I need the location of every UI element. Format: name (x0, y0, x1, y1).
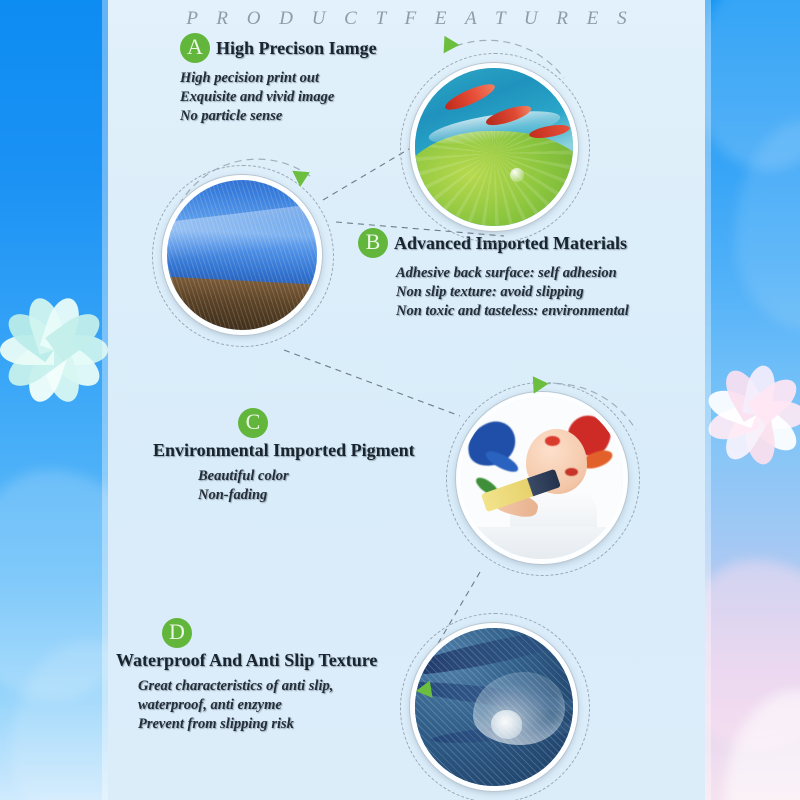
feature-d-line: Prevent from slipping risk (138, 715, 377, 734)
feature-block-d: D Waterproof And Anti Slip Texture Great… (116, 618, 377, 734)
feature-a-line: No particle sense (180, 107, 377, 126)
feature-b-body: Adhesive back surface: self adhesion Non… (396, 264, 629, 321)
feature-block-c: C Environmental Imported Pigment Beautif… (153, 408, 415, 505)
feature-d-body: Great characteristics of anti slip, wate… (138, 677, 377, 734)
feature-a-title: High Precison Iamge (216, 38, 377, 59)
feature-a-line: High pecision print out (180, 69, 377, 88)
feature-c-body: Beautiful color Non-fading (198, 467, 415, 505)
badge-b: B (358, 228, 388, 258)
feature-a-line: Exquisite and vivid image (180, 88, 377, 107)
green-triangle-arrow-icon (437, 32, 460, 54)
feature-c-line: Non-fading (198, 486, 415, 505)
feature-d-line: waterproof, anti enzyme (138, 696, 377, 715)
product-features-poster: P R O D U C T F E A T U R E S A High Pre… (0, 0, 800, 800)
left-decorative-border (0, 0, 108, 800)
feature-b-line: Adhesive back surface: self adhesion (396, 264, 629, 283)
badge-a: A (180, 33, 210, 63)
content-panel: P R O D U C T F E A T U R E S A High Pre… (108, 0, 705, 800)
dashed-ring (400, 613, 590, 800)
feature-b-line: Non slip texture: avoid slipping (396, 283, 629, 302)
feature-a-body: High pecision print out Exquisite and vi… (180, 69, 377, 126)
dashed-ring (446, 382, 640, 576)
feature-c-line: Beautiful color (198, 467, 415, 486)
badge-d: D (162, 618, 192, 648)
dashed-ring (152, 165, 334, 347)
flower-rosette-icon (0, 290, 108, 410)
feature-c-title: Environmental Imported Pigment (153, 440, 415, 461)
badge-c: C (238, 408, 268, 438)
feature-b-line: Non toxic and tasteless: environmental (396, 302, 629, 321)
border-edge-highlight (705, 0, 711, 800)
flower-petals-icon (705, 360, 800, 470)
right-decorative-border (705, 0, 800, 800)
feature-c-header: C Environmental Imported Pigment (153, 408, 415, 461)
dashed-ring (400, 53, 590, 243)
feature-d-header: D Waterproof And Anti Slip Texture (116, 618, 377, 671)
feature-block-a: A High Precison Iamge High pecision prin… (180, 33, 377, 126)
feature-a-header: A High Precison Iamge (180, 33, 377, 63)
feature-d-title: Waterproof And Anti Slip Texture (116, 650, 377, 671)
feature-d-line: Great characteristics of anti slip, (138, 677, 377, 696)
page-title: P R O D U C T F E A T U R E S (108, 8, 705, 30)
